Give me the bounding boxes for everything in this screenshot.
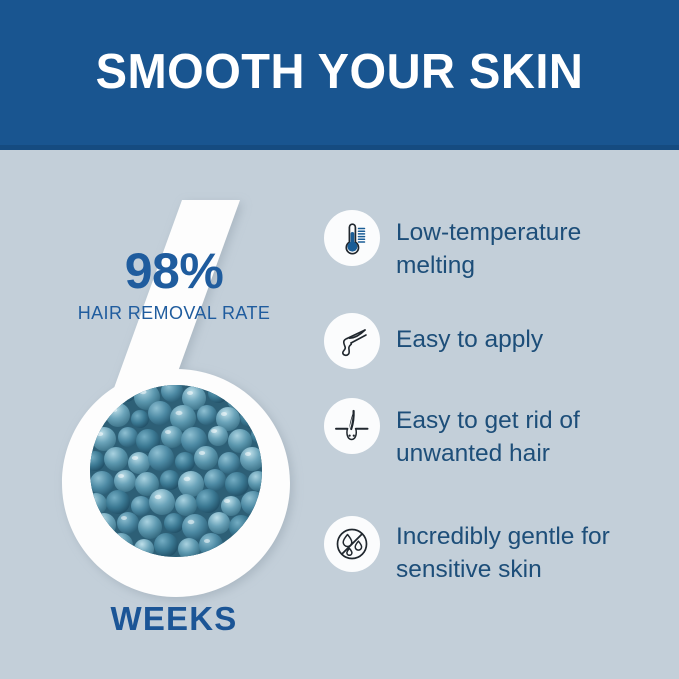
wax-bead-texture <box>90 385 262 557</box>
header-banner: SMOOTH YOUR SKIN <box>0 0 679 150</box>
six-weeks-stat-block: 98% HAIR REMOVAL RATE WEEKS <box>14 160 334 660</box>
feature-item-low-temperature-melting: Low-temperature melting <box>324 210 669 282</box>
feature-label: Low-temperature melting <box>396 210 661 282</box>
page-title: SMOOTH YOUR SKIN <box>14 43 666 101</box>
hair-removal-rate-label: HAIR REMOVAL RATE <box>14 302 334 324</box>
feature-item-gentle-sensitive-skin: Incredibly gentle for sensitive skin <box>324 516 669 586</box>
weeks-label: WEEKS <box>14 600 334 638</box>
no-irritation-droplet-icon <box>324 516 380 572</box>
hair-removal-rate-value: 98% <box>14 245 334 297</box>
banner-underline <box>0 145 679 150</box>
feature-label: Incredibly gentle for sensitive skin <box>396 516 661 586</box>
hair-follicle-icon <box>324 398 380 454</box>
feature-item-remove-unwanted-hair: Easy to get rid of unwanted hair <box>324 398 669 470</box>
wax-beads-photo <box>90 385 262 557</box>
infographic-page: SMOOTH YOUR SKIN <box>0 0 679 679</box>
spatula-applicator-icon <box>324 313 380 369</box>
feature-item-easy-to-apply: Easy to apply <box>324 313 669 369</box>
feature-label: Easy to apply <box>396 313 543 356</box>
feature-label: Easy to get rid of unwanted hair <box>396 398 661 470</box>
thermometer-icon <box>324 210 380 266</box>
